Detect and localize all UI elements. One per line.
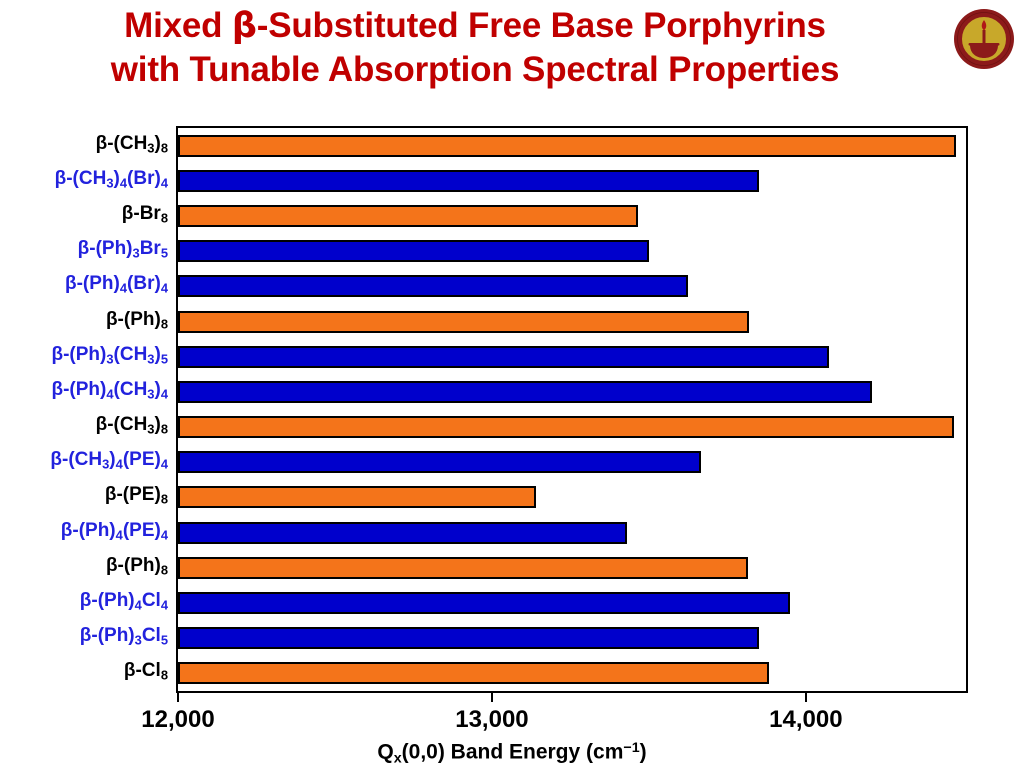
bar[interactable] <box>178 135 956 157</box>
category-label: β-(PE)8 <box>105 485 168 510</box>
bar[interactable] <box>178 205 638 227</box>
slide-canvas: Mixed β-Substituted Free Base Porphyrins… <box>0 0 1024 772</box>
bar-row <box>178 234 966 269</box>
bar[interactable] <box>178 346 829 368</box>
category-label: β-(Ph)4Cl4 <box>80 591 168 616</box>
beta-glyph-title: β <box>232 6 257 46</box>
x-tick-mark <box>491 693 493 702</box>
bar[interactable] <box>178 416 954 438</box>
iit-madras-logo-icon <box>953 8 1015 70</box>
category-label: β-(Ph)3Br5 <box>78 239 168 264</box>
x-axis-title-unit-exponent: −1 <box>623 740 639 756</box>
title-line-1-prefix: Mixed <box>124 6 232 45</box>
bar-row <box>178 621 966 656</box>
x-tick-label: 14,000 <box>769 706 842 734</box>
bar-row <box>178 128 966 163</box>
x-tick-label: 13,000 <box>455 706 528 734</box>
category-label: β-(Ph)8 <box>106 556 168 581</box>
category-label: β-(Ph)4(PE)4 <box>61 521 168 546</box>
title-line-1-suffix: -Substituted Free Base Porphyrins <box>257 6 826 45</box>
bar-row <box>178 515 966 550</box>
bar-row <box>178 163 966 198</box>
bar[interactable] <box>178 627 759 649</box>
category-label: β-(Ph)3Cl5 <box>80 626 168 651</box>
category-label: β-(CH3)4(Br)4 <box>55 169 168 194</box>
x-tick-mark <box>177 693 179 702</box>
bar[interactable] <box>178 451 701 473</box>
bar-row <box>178 550 966 585</box>
bar-row <box>178 410 966 445</box>
bar-row <box>178 480 966 515</box>
bar-row <box>178 585 966 620</box>
category-label: β-(Ph)4(Br)4 <box>65 274 168 299</box>
x-tick-label: 12,000 <box>141 706 214 734</box>
category-label: β-(Ph)8 <box>106 310 168 335</box>
category-label: β-(CH3)8 <box>96 415 168 440</box>
category-label: β-(Ph)3(CH3)5 <box>51 345 168 370</box>
bar[interactable] <box>178 381 872 403</box>
bar[interactable] <box>178 557 748 579</box>
bar[interactable] <box>178 486 536 508</box>
bar[interactable] <box>178 170 759 192</box>
bar-row <box>178 269 966 304</box>
category-label: β-(CH3)8 <box>96 134 168 159</box>
x-axis-title-sub: x <box>394 750 402 766</box>
bar-row <box>178 656 966 691</box>
x-tick-mark <box>805 693 807 702</box>
slide-title: Mixed β-Substituted Free Base Porphyrins… <box>0 4 950 91</box>
category-label: β-(Ph)4(CH3)4 <box>51 380 168 405</box>
bar[interactable] <box>178 592 790 614</box>
bar[interactable] <box>178 275 688 297</box>
x-axis-title-close: ) <box>640 740 647 763</box>
x-axis-title: Qx(0,0) Band Energy (cm−1) <box>0 740 1024 766</box>
bar[interactable] <box>178 240 649 262</box>
category-axis-labels: β-(CH3)8β-(CH3)4(Br)4β-Br8β-(Ph)3Br5β-(P… <box>0 128 172 691</box>
bar-row <box>178 198 966 233</box>
category-label: β-Cl8 <box>124 661 168 686</box>
bar-row <box>178 445 966 480</box>
bar-row <box>178 374 966 409</box>
title-line-1: Mixed β-Substituted Free Base Porphyrins <box>0 4 950 48</box>
x-axis-title-main: (0,0) Band Energy (cm <box>402 740 624 763</box>
category-label: β-Br8 <box>122 204 168 229</box>
bar-row <box>178 304 966 339</box>
x-axis-title-q: Q <box>377 740 393 763</box>
bar[interactable] <box>178 662 769 684</box>
bar[interactable] <box>178 522 627 544</box>
category-label: β-(CH3)4(PE)4 <box>50 450 168 475</box>
bars-layer <box>178 128 966 691</box>
bar-row <box>178 339 966 374</box>
title-line-2: with Tunable Absorption Spectral Propert… <box>0 48 950 91</box>
bar[interactable] <box>178 311 749 333</box>
